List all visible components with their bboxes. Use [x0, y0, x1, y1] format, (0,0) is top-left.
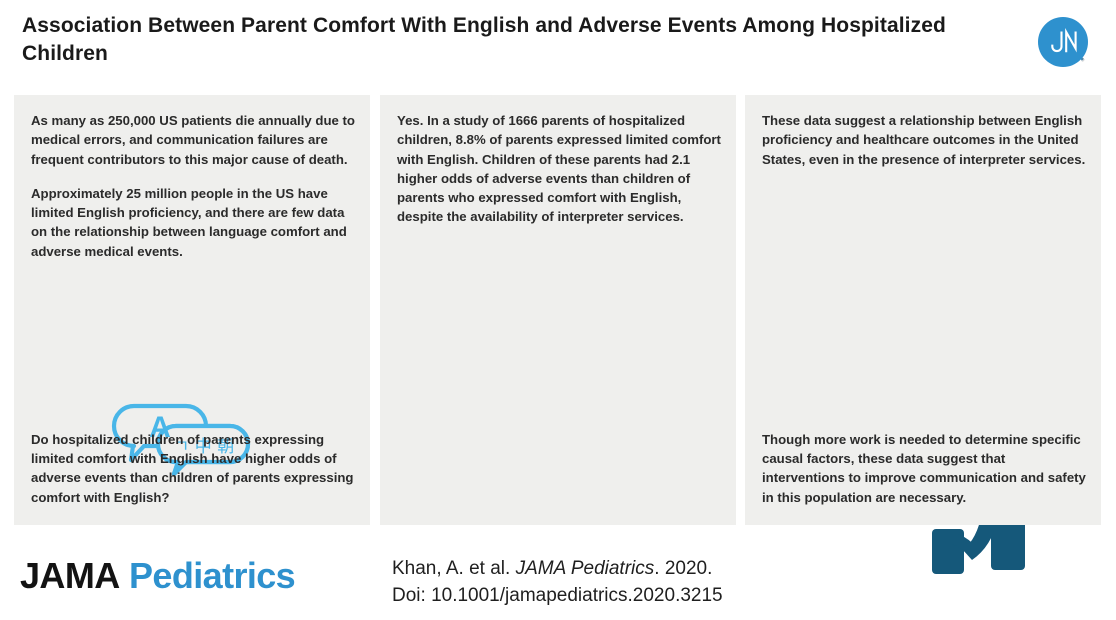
middle-panel-answer-text: Yes. In a study of 1666 parents of hospi…	[397, 111, 722, 227]
header: Association Between Parent Comfort With …	[22, 12, 982, 82]
page-title: Association Between Parent Comfort With …	[22, 12, 982, 68]
citation-year: . 2020.	[654, 558, 712, 579]
infographic-poster: Association Between Parent Comfort With …	[0, 0, 1116, 620]
panel-background: These data suggest a relationship betwee…	[745, 95, 1101, 525]
citation-doi: Doi: 10.1001/jamapediatrics.2020.3215	[392, 583, 723, 610]
citation-line-1: Khan, A. et al. JAMA Pediatrics. 2020.	[392, 556, 723, 583]
citation: Khan, A. et al. JAMA Pediatrics. 2020. D…	[392, 556, 723, 610]
left-paragraph-1: As many as 250,000 US patients die annua…	[31, 111, 356, 169]
left-paragraph-2: Approximately 25 million people in the U…	[31, 184, 356, 261]
right-paragraph-1: These data suggest a relationship betwee…	[762, 111, 1087, 169]
panel-background: As many as 250,000 US patients die annua…	[14, 95, 370, 525]
right-paragraph-2: Though more work is needed to determine …	[762, 430, 1087, 507]
citation-journal: JAMA Pediatrics	[516, 558, 655, 579]
research-question: Do hospitalized children of parents expr…	[31, 430, 356, 507]
jama-pediatrics-logo: JAMA Pediatrics	[20, 555, 295, 597]
right-panel-conclusion-text: Though more work is needed to determine …	[762, 430, 1087, 507]
pediatrics-wordmark: Pediatrics	[129, 555, 295, 596]
citation-authors: Khan, A. et al.	[392, 558, 516, 579]
left-panel-question-text: Do hospitalized children of parents expr…	[31, 430, 356, 507]
right-panel-implication-text: These data suggest a relationship betwee…	[762, 111, 1087, 169]
study-answer: Yes. In a study of 1666 parents of hospi…	[397, 111, 722, 227]
left-panel-intro-text: As many as 250,000 US patients die annua…	[31, 111, 356, 261]
jn-network-logo-icon: ®	[1037, 16, 1091, 70]
jama-wordmark: JAMA	[20, 555, 120, 596]
panel-background: Yes. In a study of 1666 parents of hospi…	[380, 95, 736, 525]
svg-text:®: ®	[1081, 57, 1085, 63]
